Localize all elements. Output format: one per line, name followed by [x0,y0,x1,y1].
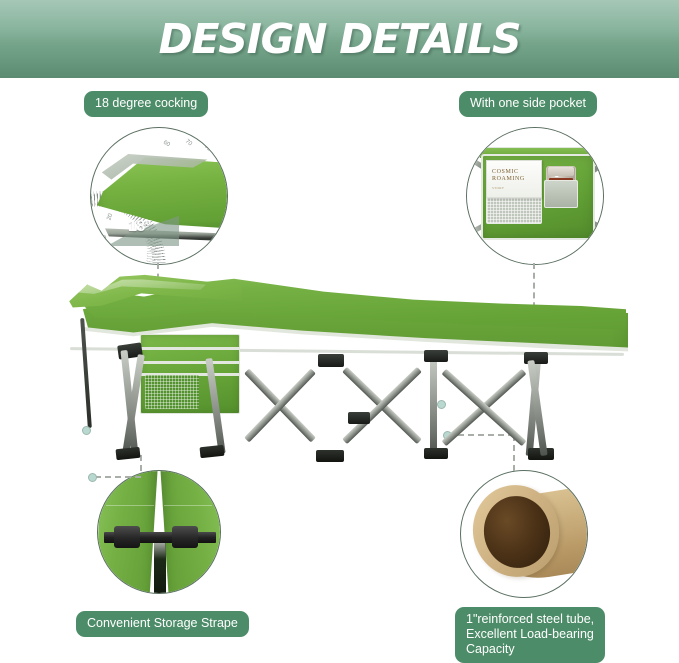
connector-line-bottom-left-h [95,476,141,478]
book-title-line2: ROAMING [492,176,538,184]
pocket-band-1 [141,347,239,350]
leg-left-thin [80,318,92,428]
detail-circle-side-pocket: COSMIC ROAMING STORY [466,127,604,265]
infographic-page: DESIGN DETAILS 18 degree cocking With on… [0,0,679,663]
detail-circle-storage-strap [97,470,221,594]
fabric-center-gap [154,535,166,593]
pocket-band-2 [141,361,239,364]
callout-label-steel-tube: 1"reinforced steel tube, Excellent Load-… [455,607,605,663]
detail-circle-18-degree: 0 20 40 60 70 80 18° [90,127,228,265]
leg-tip-left [82,426,91,435]
angle-value: 18° [128,218,151,236]
tick-0: 0 [103,236,106,242]
jar-lid [548,167,574,176]
tick-60: 60 [162,140,171,149]
joint-mid-1 [318,354,344,367]
callout-label-storage-strap: Convenient Storage Strape [76,611,249,637]
fabric-seam-right [164,505,212,506]
callout-label-side-pocket: With one side pocket [459,91,597,117]
book-subtitle: STORY [492,186,504,190]
product-image-folding-cot [0,262,679,472]
book-in-pocket: COSMIC ROAMING STORY [486,160,542,198]
tick-80: 80 [203,144,212,153]
cot-side-pocket [140,334,240,414]
buckle-right [172,526,198,548]
detail-circle-storage-strap-content [98,471,220,593]
foot-mid-1 [316,450,344,462]
callout-label-18-degree: 18 degree cocking [84,91,208,117]
foot-l2 [199,445,224,458]
post-center-1 [430,354,437,454]
foot-center [424,448,448,459]
buckle-left [114,526,140,548]
fabric-seam-left [106,505,154,506]
detail-circle-18-degree-content: 0 20 40 60 70 80 18° [91,128,227,264]
connector-dot-bottom-left [88,473,97,482]
pocket-small-pouch [544,180,578,208]
tick-70: 70 [184,139,193,148]
pocket-mesh [145,375,199,409]
header-banner: DESIGN DETAILS [0,0,679,78]
joint-center-top [424,350,448,362]
foot-l1 [115,447,140,460]
page-title: DESIGN DETAILS [0,0,679,78]
tick-20: 20 [106,213,114,221]
detail-circle-steel-tube [460,470,588,598]
brace-pivot-dot [437,400,446,409]
detail-circle-steel-tube-content [461,471,587,597]
joint-mid-2 [348,412,370,424]
detail-circle-side-pocket-content: COSMIC ROAMING STORY [467,128,603,264]
